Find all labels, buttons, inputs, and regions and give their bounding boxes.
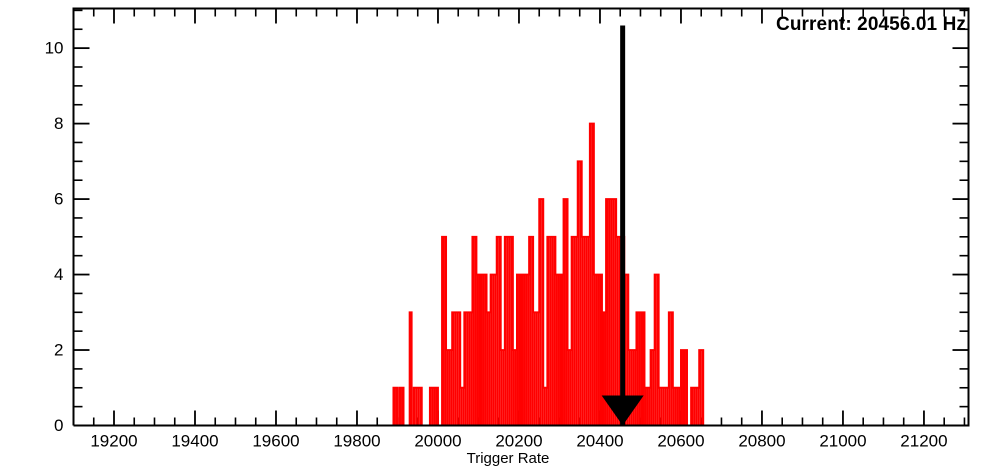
histogram-bar [487, 312, 489, 425]
histogram-bar [588, 237, 590, 426]
x-tick-label: 20000 [414, 432, 461, 451]
histogram-bar [632, 350, 634, 425]
histogram-bar [568, 350, 570, 425]
histogram-bar [507, 237, 509, 426]
histogram-bar [604, 312, 606, 425]
root-canvas: Current: 20456.01 Hz 0246810 19200194001… [0, 0, 996, 472]
x-tick-label: 19600 [252, 432, 299, 451]
histogram-bar [638, 312, 640, 425]
histogram-bar [495, 275, 497, 426]
histogram-bar [460, 388, 462, 426]
x-tick-label: 20400 [576, 432, 623, 451]
histogram-bar [649, 388, 651, 426]
histogram-bar [574, 237, 576, 426]
x-tick-label: 20600 [657, 432, 704, 451]
histogram-bar [673, 388, 675, 426]
histogram-bar [559, 275, 561, 426]
histogram-bar [602, 312, 604, 425]
x-axis-labels: 1920019400196001980020000202002040020600… [90, 432, 947, 451]
histogram-bar [570, 350, 572, 425]
histogram-bar [519, 275, 521, 426]
histogram-bar [695, 388, 697, 426]
x-tick-label: 20200 [495, 432, 542, 451]
histogram-bar [551, 237, 553, 426]
histogram-bar [675, 388, 677, 426]
histogram-bar [466, 312, 468, 425]
histogram-canvas: 0246810 19200194001960019800200002020020… [0, 0, 996, 472]
histogram-bar [515, 350, 517, 425]
y-tick-label: 2 [54, 341, 63, 360]
histogram-bar [489, 312, 491, 425]
histogram-bar [663, 388, 665, 426]
histogram-bar [576, 237, 578, 426]
x-tick-label: 20800 [738, 432, 785, 451]
histogram-bar [456, 312, 458, 425]
histogram-bar [653, 350, 655, 425]
histogram-bar [549, 237, 551, 426]
histogram-bar [545, 388, 547, 426]
histogram-bar [582, 237, 584, 426]
y-tick-label: 10 [45, 39, 64, 58]
histogram-bar [557, 275, 559, 426]
x-tick-label: 21000 [819, 432, 866, 451]
histogram-bar [594, 275, 596, 426]
x-tick-label: 19400 [171, 432, 218, 451]
y-tick-label: 0 [54, 416, 63, 435]
histogram-bar [640, 312, 642, 425]
histogram-bar [661, 388, 663, 426]
histogram-bar [481, 275, 483, 426]
histogram-bar [586, 237, 588, 426]
histogram-bar [503, 350, 505, 425]
histogram-bar [584, 237, 586, 426]
y-axis-labels: 0246810 [45, 39, 64, 435]
y-tick-label: 6 [54, 190, 63, 209]
histogram-bar [521, 275, 523, 426]
y-tick-label: 4 [54, 265, 63, 284]
x-tick-label: 21200 [900, 432, 947, 451]
histogram-bar [608, 199, 610, 425]
histogram-bar [446, 350, 448, 425]
histogram-bar [697, 388, 699, 426]
x-tick-label: 19800 [333, 432, 380, 451]
histogram-bar [501, 350, 503, 425]
histogram-bar [513, 350, 515, 425]
histogram-bar [677, 388, 679, 426]
histogram-bar [418, 388, 420, 426]
histogram-bar [454, 312, 456, 425]
histogram-bar [476, 275, 478, 426]
histogram-bar [596, 275, 598, 426]
histogram-bar [612, 199, 614, 425]
histogram-bar [598, 275, 600, 426]
histogram-bar [432, 388, 434, 426]
histogram-bar [683, 350, 685, 425]
histogram-bar [478, 275, 480, 426]
histogram-bar [634, 350, 636, 425]
x-axis-title: Trigger Rate [467, 450, 550, 467]
histogram-bar [535, 312, 537, 425]
histogram-bar [493, 275, 495, 426]
histogram-bar [610, 199, 612, 425]
histogram-bar [470, 312, 472, 425]
histogram-bar [630, 350, 632, 425]
y-tick-label: 8 [54, 114, 63, 133]
histogram-bar [679, 388, 681, 426]
histogram-bar [523, 275, 525, 426]
histogram-bar [416, 388, 418, 426]
histogram-bar [537, 312, 539, 425]
histogram-bar [468, 312, 470, 425]
histogram-bar [667, 388, 669, 426]
histogram-bar [527, 275, 529, 426]
histogram-series [74, 124, 969, 426]
histogram-bar [533, 312, 535, 425]
histogram-bar [450, 350, 452, 425]
histogram-bar [647, 388, 649, 426]
histogram-bar [561, 275, 563, 426]
histogram-bar [659, 388, 661, 426]
histogram-bar [525, 275, 527, 426]
histogram-bar [483, 275, 485, 426]
histogram-bar [645, 388, 647, 426]
histogram-bar [448, 350, 450, 425]
histogram-bar [462, 388, 464, 426]
histogram-bar [509, 237, 511, 426]
histogram-bar [555, 275, 557, 426]
histogram-bar [665, 388, 667, 426]
histogram-bar [543, 388, 545, 426]
histogram-bar [434, 388, 436, 426]
histogram-bar [693, 388, 695, 426]
x-tick-label: 19200 [90, 432, 137, 451]
